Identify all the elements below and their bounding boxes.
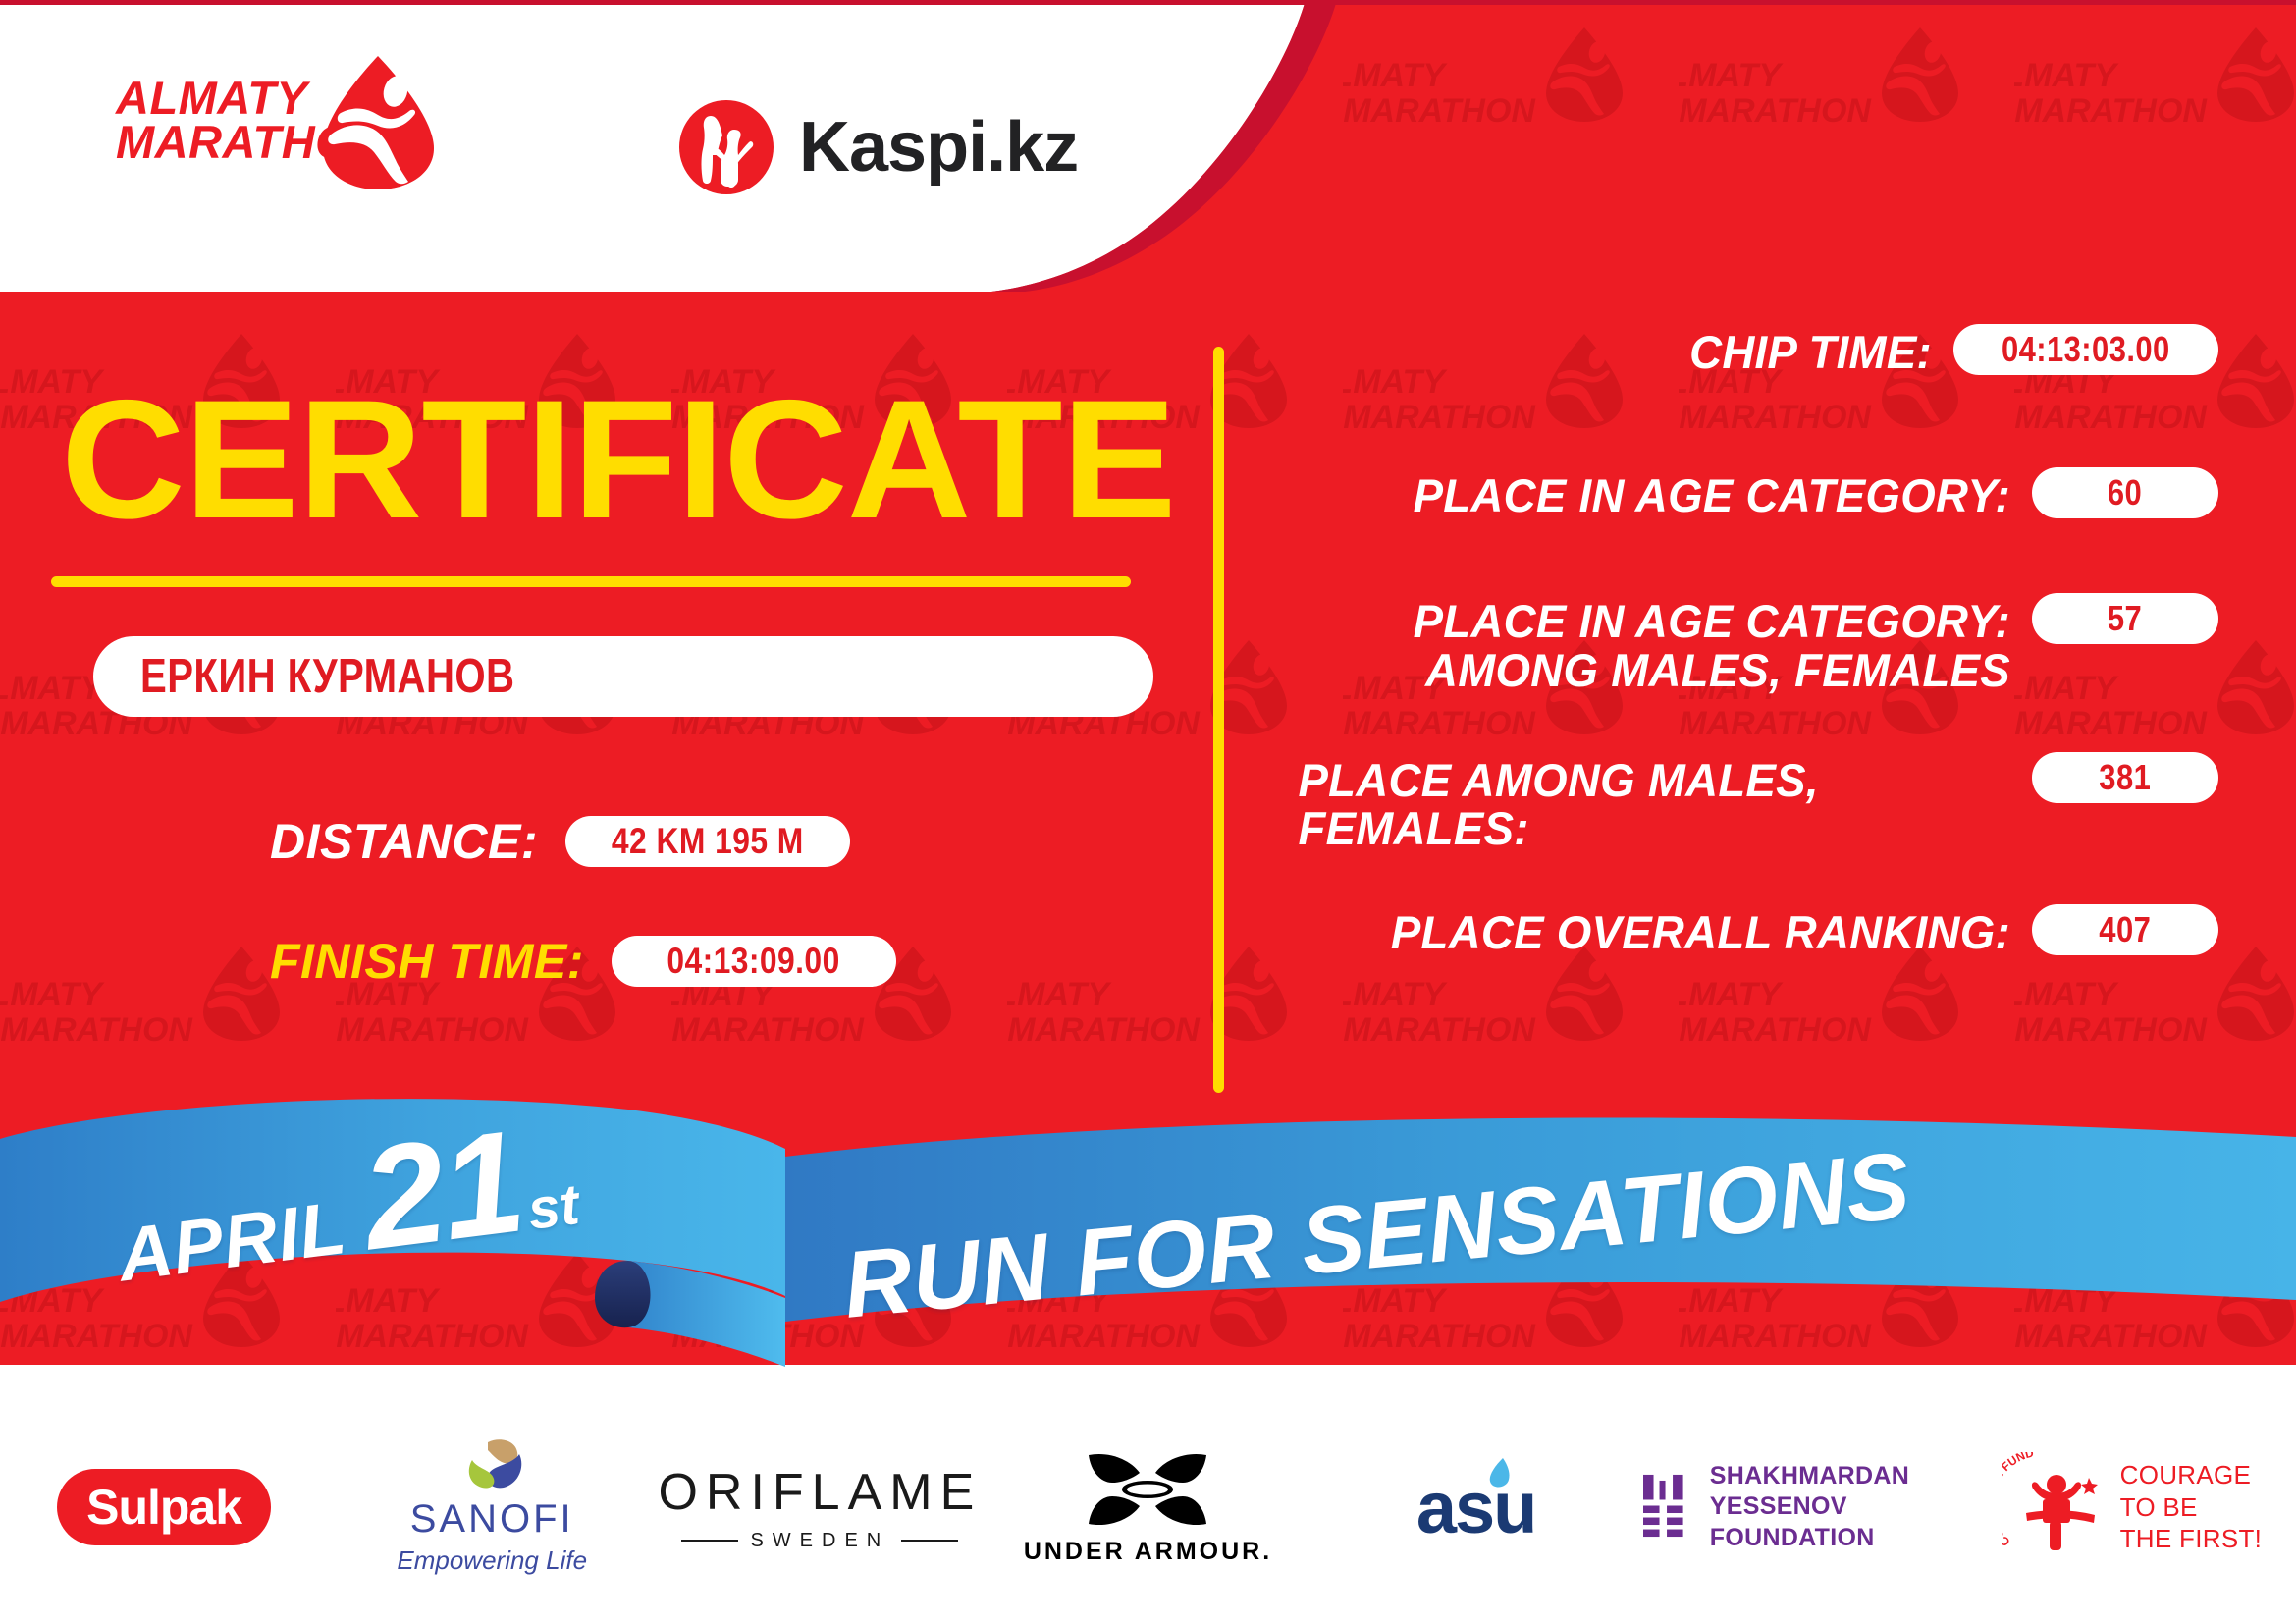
under-armour-logo: UNDER ARMOUR. xyxy=(1024,1449,1272,1566)
courage-wordmark: COURAGE TO BE THE FIRST! xyxy=(2120,1459,2263,1555)
place-in-age-category-gender-value: 57 xyxy=(2108,598,2142,639)
oriflame-wordmark: ORIFLAME xyxy=(658,1463,982,1522)
yessenov-bars-icon xyxy=(1640,1462,1690,1552)
place-in-age-category-row: PLACE IN AGE CATEGORY: 60 xyxy=(1276,467,2218,532)
svg-text:CORPORATE FUND: CORPORATE FUND xyxy=(2002,1452,2035,1549)
sponsor-asu: asu xyxy=(1312,1434,1640,1581)
finish-time-value: 04:13:09.00 xyxy=(667,941,840,982)
event-day-ordinal: st xyxy=(524,1171,583,1243)
distance-value-pill: 42 KM 195 M xyxy=(565,816,850,867)
oriflame-tagline: SWEDEN xyxy=(750,1530,889,1552)
chip-time-row: CHIP TIME: 04:13:03.00 xyxy=(1276,324,2218,389)
place-in-age-category-label: PLACE IN AGE CATEGORY: xyxy=(1298,467,2010,520)
yessenov-wordmark: SHAKHMARDAN YESSENOV FOUNDATION xyxy=(1710,1461,1968,1553)
sponsor-courage-to-be-the-first: CORPORATE FUND COURAGE TO BE THE FIRST! xyxy=(1968,1434,2296,1581)
almaty-marathon-droplet-runner-icon xyxy=(317,54,440,191)
finish-time-row: FINISH TIME: 04:13:09.00 xyxy=(270,933,896,990)
kaspi-logo: Kaspi.kz xyxy=(677,93,1078,201)
chip-time-label: CHIP TIME: xyxy=(1296,324,1932,377)
sponsor-under-armour: UNDER ARMOUR. xyxy=(984,1434,1311,1581)
distance-value: 42 KM 195 M xyxy=(612,821,804,862)
yessenov-logo: SHAKHMARDAN YESSENOV FOUNDATION xyxy=(1640,1461,1968,1553)
athlete-name-value: ЕРКИН КУРМАНОВ xyxy=(140,649,514,704)
place-in-age-category-value-pill: 60 xyxy=(2032,467,2218,518)
left-column: CERTIFICATE ЕРКИН КУРМАНОВ DISTANCE: 42 … xyxy=(0,295,1217,1110)
chip-time-value: 04:13:03.00 xyxy=(2002,329,2170,370)
finish-time-value-pill: 04:13:09.00 xyxy=(612,936,896,987)
oriflame-rule-left xyxy=(681,1540,738,1542)
certificate-canvas: ALMATY MARATHON Kaspi.kz CERTIFICATE ЕРК… xyxy=(0,0,2296,1624)
right-column: CHIP TIME: 04:13:03.00 PLACE IN AGE CATE… xyxy=(1276,324,2218,1004)
sulpak-logo: Sulpak xyxy=(57,1469,271,1545)
sponsor-sanofi: SANOFI Empowering Life xyxy=(328,1434,656,1581)
finish-time-label: FINISH TIME: xyxy=(270,933,584,990)
place-among-gender-value-pill: 381 xyxy=(2032,752,2218,803)
sponsor-sulpak: Sulpak xyxy=(0,1434,328,1581)
sanofi-swirl-icon xyxy=(443,1438,541,1495)
place-among-gender-row: PLACE AMONG MALES, FEMALES: 381 xyxy=(1276,752,2218,854)
under-armour-u-a-icon xyxy=(1083,1449,1212,1530)
athlete-name-field: ЕРКИН КУРМАНОВ xyxy=(93,636,1153,717)
place-overall-ranking-label: PLACE OVERALL RANKING: xyxy=(1298,904,2010,957)
place-among-gender-label: PLACE AMONG MALES, FEMALES: xyxy=(1298,752,2010,854)
chip-time-value-pill: 04:13:03.00 xyxy=(1953,324,2218,375)
distance-row: DISTANCE: 42 KM 195 M xyxy=(270,813,850,870)
asu-wordmark: asu xyxy=(1416,1466,1536,1549)
oriflame-logo: ORIFLAME SWEDEN xyxy=(658,1463,982,1552)
courage-line1: COURAGE xyxy=(2120,1459,2263,1491)
page-title: CERTIFICATE xyxy=(61,375,1176,544)
oriflame-rule-right xyxy=(901,1540,958,1542)
place-in-age-category-gender-label: PLACE IN AGE CATEGORY: AMONG MALES, FEMA… xyxy=(1298,593,2010,695)
asu-logo: asu xyxy=(1416,1466,1536,1549)
yessenov-line1: SHAKHMARDAN YESSENOV xyxy=(1710,1461,1968,1523)
oriflame-sub: SWEDEN xyxy=(681,1530,958,1552)
header-top-rule xyxy=(0,0,2296,5)
asu-droplet-icon xyxy=(1485,1456,1513,1489)
courage-logo: CORPORATE FUND COURAGE TO BE THE FIRST! xyxy=(2002,1452,2263,1562)
kaspi-family-circle-icon xyxy=(677,98,775,196)
place-overall-ranking-value: 407 xyxy=(2100,909,2152,950)
column-divider xyxy=(1213,347,1224,1093)
sanofi-wordmark: SANOFI xyxy=(410,1497,574,1542)
courage-arc-text: CORPORATE FUND xyxy=(2002,1452,2035,1549)
sponsor-yessenov-foundation: SHAKHMARDAN YESSENOV FOUNDATION xyxy=(1640,1434,1968,1581)
sponsor-logo-strip: Sulpak SANOFI Empowering Life ORIFLAME S… xyxy=(0,1414,2296,1600)
sanofi-tagline: Empowering Life xyxy=(397,1545,587,1576)
place-in-age-category-gender-value-pill: 57 xyxy=(2032,593,2218,644)
almaty-marathon-logo: ALMATY MARATHON xyxy=(116,54,440,201)
place-overall-ranking-value-pill: 407 xyxy=(2032,904,2218,955)
title-underline-rule xyxy=(51,576,1131,587)
courage-line3: THE FIRST! xyxy=(2120,1523,2263,1555)
courage-runner-finish-tape-icon: CORPORATE FUND xyxy=(2002,1452,2110,1562)
courage-line2: TO BE xyxy=(2120,1491,2263,1524)
kaspi-wordmark: Kaspi.kz xyxy=(799,107,1078,188)
place-in-age-category-value: 60 xyxy=(2108,472,2142,514)
under-armour-wordmark: UNDER ARMOUR. xyxy=(1024,1538,1272,1566)
sanofi-logo: SANOFI Empowering Life xyxy=(397,1438,587,1576)
place-in-age-category-gender-row: PLACE IN AGE CATEGORY: AMONG MALES, FEMA… xyxy=(1276,593,2218,695)
place-overall-ranking-row: PLACE OVERALL RANKING: 407 xyxy=(1276,904,2218,969)
sulpak-wordmark: Sulpak xyxy=(86,1479,241,1536)
sponsor-oriflame: ORIFLAME SWEDEN xyxy=(656,1434,984,1581)
event-month: APRIL xyxy=(114,1185,351,1299)
distance-label: DISTANCE: xyxy=(270,813,538,870)
place-among-gender-value: 381 xyxy=(2100,757,2152,798)
yessenov-line2: FOUNDATION xyxy=(1710,1523,1968,1553)
event-day: 21 xyxy=(353,1099,531,1284)
